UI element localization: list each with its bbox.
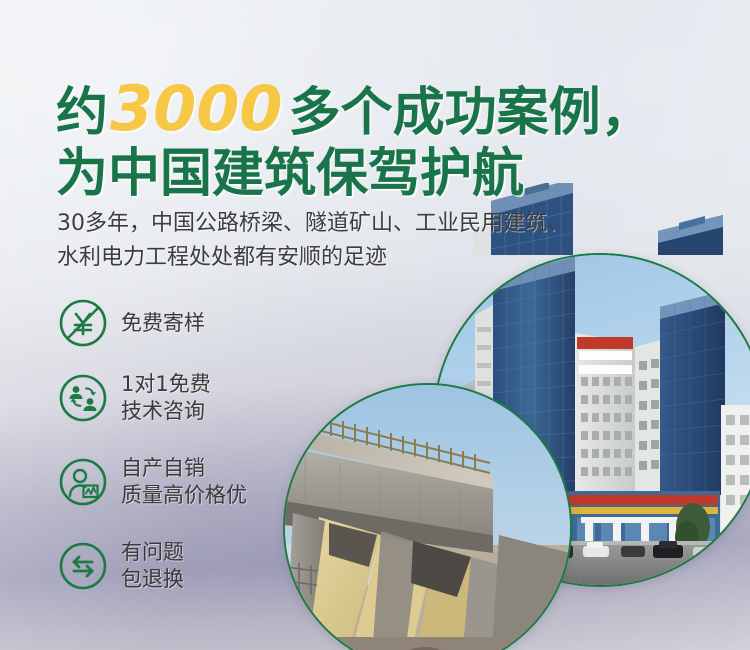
headline-number: 3000 — [108, 72, 289, 145]
self-produce-icon — [57, 456, 109, 508]
free-sample-icon — [57, 297, 109, 349]
feature-item-text: 有问题 包退换 — [121, 539, 184, 593]
feature-line-2: 技术咨询 — [121, 399, 205, 423]
feature-line-2: 包退换 — [121, 567, 184, 591]
feature-line-1: 自产自销 — [121, 456, 205, 480]
feature-item-text: 自产自销 质量高价格优 — [121, 455, 247, 509]
headline-suffix: 多个成功案例， — [289, 83, 653, 143]
feature-item-self-produce: 自产自销 质量高价格优 — [57, 445, 347, 519]
feature-item-exchange: 有问题 包退换 — [57, 529, 347, 603]
headline: 约3000多个成功案例， 为中国建筑保驾护航 — [56, 78, 716, 200]
feature-list: 免费寄样 — [57, 295, 347, 613]
promo-banner: 约3000多个成功案例， 为中国建筑保驾护航 30多年，中国公路桥梁、隧道矿山、… — [0, 0, 750, 650]
feature-item-free-sample: 免费寄样 — [57, 295, 347, 351]
subtitle: 30多年，中国公路桥梁、隧道矿山、工业民用建筑、 水利电力工程处处都有安顺的足迹 — [57, 207, 717, 275]
exchange-icon — [57, 540, 109, 592]
feature-line-1: 1对1免费 — [121, 372, 211, 396]
feature-line-2: 质量高价格优 — [121, 483, 247, 507]
headline-line-2: 为中国建筑保驾护航 — [56, 148, 716, 200]
subtitle-line-1: 30多年，中国公路桥梁、隧道矿山、工业民用建筑、 — [57, 207, 717, 241]
subtitle-line-2: 水利电力工程处处都有安顺的足迹 — [57, 241, 717, 275]
consultation-icon — [57, 372, 109, 424]
headline-line-1: 约3000多个成功案例， — [56, 78, 716, 140]
feature-line-1: 有问题 — [121, 540, 184, 564]
feature-item-text: 1对1免费 技术咨询 — [121, 371, 211, 425]
feature-item-consultation: 1对1免费 技术咨询 — [57, 361, 347, 435]
feature-item-text: 免费寄样 — [121, 310, 205, 337]
feature-line-1: 免费寄样 — [121, 311, 205, 335]
headline-prefix: 约 — [56, 83, 108, 143]
